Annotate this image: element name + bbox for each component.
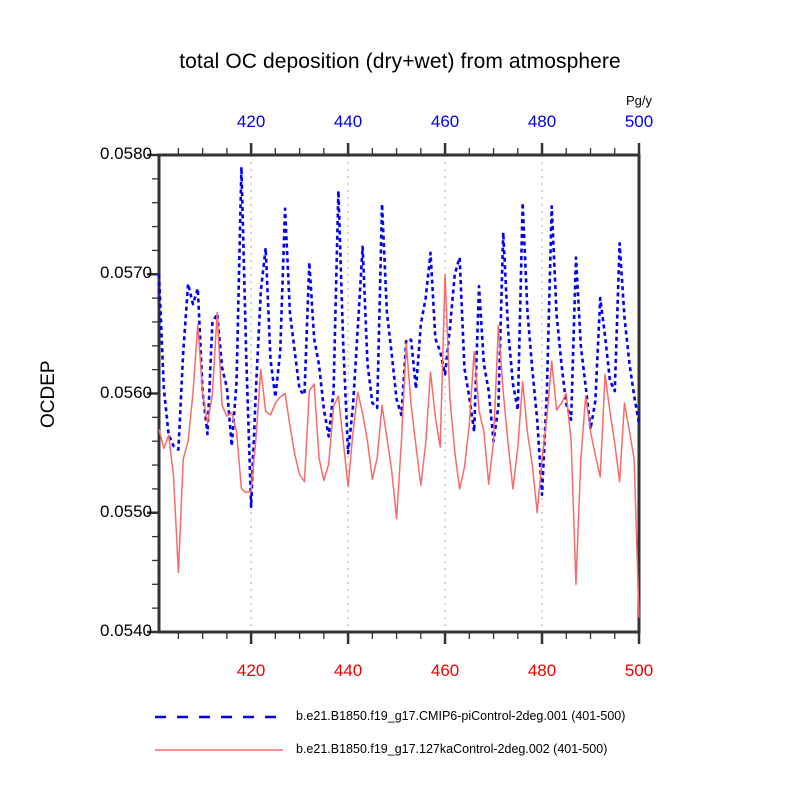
y-axis-tick-label: 0.0570: [52, 263, 152, 283]
y-axis-tick-label: 0.0540: [52, 621, 152, 641]
bottom-axis-tick-label: 440: [318, 661, 378, 681]
y-axis-tick-label: 0.0560: [52, 383, 152, 403]
top-axis-tick-label: 440: [318, 112, 378, 132]
legend-swatch-2: [155, 744, 285, 756]
legend-label-1: b.e21.B1850.f19_g17.CMIP6-piControl-2deg…: [296, 709, 625, 723]
bottom-axis-tick-label: 460: [415, 661, 475, 681]
bottom-axis-tick-label: 480: [512, 661, 572, 681]
top-axis-tick-label: 500: [609, 112, 669, 132]
bottom-axis-tick-label: 500: [609, 661, 669, 681]
top-axis-tick-label: 460: [415, 112, 475, 132]
top-axis-tick-label: 480: [512, 112, 572, 132]
y-axis-tick-label: 0.0550: [52, 502, 152, 522]
legend-swatch-1: [155, 711, 285, 723]
legend-label-2: b.e21.B1850.f19_g17.127kaControl-2deg.00…: [296, 742, 607, 756]
series-line-1: [159, 167, 639, 507]
bottom-axis-tick-label: 420: [221, 661, 281, 681]
series-line-2: [159, 274, 639, 617]
y-axis-tick-label: 0.0580: [52, 144, 152, 164]
top-axis-tick-label: 420: [221, 112, 281, 132]
chart-canvas: total OC deposition (dry+wet) from atmos…: [0, 0, 800, 800]
